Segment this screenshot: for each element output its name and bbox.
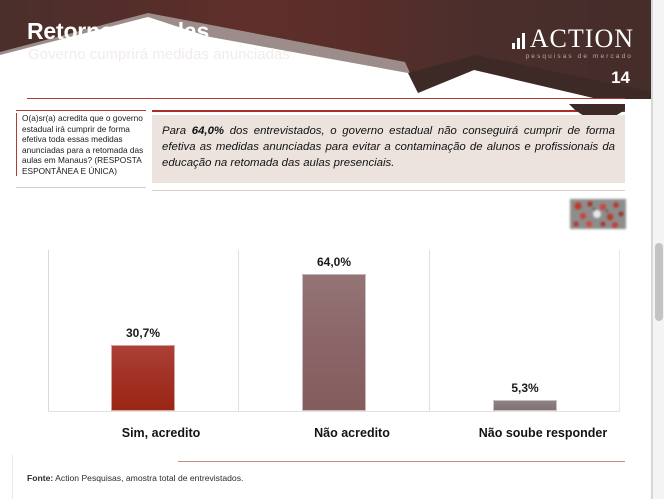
footer-label: Fonte:: [27, 473, 53, 483]
summary-callout: Para 64,0% dos entrevistados, o governo …: [152, 115, 625, 183]
thumbnail-image: [570, 199, 626, 229]
action-logo: ACTION: [512, 26, 634, 52]
footer-left-rule: [12, 455, 13, 499]
bar-chart: 30,7% 64,0% 5,3% Sim, acredito Não acred…: [30, 240, 626, 435]
logo-tagline: pesquisas de mercado: [526, 53, 633, 60]
scrollbar-thumb[interactable]: [655, 243, 663, 321]
bar-slot-2: 5,3%: [430, 250, 620, 411]
bar-slot-0: 30,7%: [48, 250, 238, 411]
category-label-2: Não soube responder: [448, 426, 638, 440]
summary-bottom-rule: [152, 190, 625, 191]
header-divider-rule: [27, 98, 625, 99]
page-number: 14: [611, 68, 630, 88]
bar-value-label-0: 30,7%: [126, 326, 160, 340]
question-bottom-rule: [16, 187, 146, 188]
summary-text: Para 64,0% dos entrevistados, o governo …: [162, 123, 615, 172]
chart-axis-bottom: [48, 411, 620, 412]
footer-rule: [178, 461, 625, 462]
page-title: Retorno as aulas: [27, 18, 209, 45]
bar-nao-acredito[interactable]: [302, 274, 366, 411]
question-top-rule: [16, 110, 146, 111]
chart-plot-area: 30,7% 64,0% 5,3% Sim, acredito Não acred…: [48, 250, 620, 412]
summary-rest: dos entrevistados, o governo estadual nã…: [162, 125, 615, 169]
document-frame: Retorno as aulas Governo cumprirá medida…: [0, 0, 652, 499]
bar-slot-1: 64,0%: [239, 250, 429, 411]
page-subtitle: Governo cumprirá medidas anunciadas: [28, 46, 290, 63]
category-label-0: Sim, acredito: [66, 426, 256, 440]
question-text: O(a)sr(a) acredita que o governo estadua…: [16, 113, 150, 176]
slide-header: Retorno as aulas Governo cumprirá medida…: [0, 0, 652, 99]
bar-nao-soube-responder[interactable]: [493, 400, 557, 411]
footer-text: Action Pesquisas, amostra total de entre…: [53, 473, 243, 483]
bar-sim-acredito[interactable]: [111, 345, 175, 411]
summary-top-rule: [152, 110, 625, 112]
bar-value-label-1: 64,0%: [317, 255, 351, 269]
bar-value-label-2: 5,3%: [511, 381, 538, 395]
vertical-scrollbar[interactable]: [652, 0, 664, 499]
summary-lead: Para: [162, 125, 192, 137]
category-label-1: Não acredito: [257, 426, 447, 440]
bar-chart-icon: [512, 33, 525, 52]
summary-highlight-value: 64,0%: [192, 125, 224, 137]
logo-wordmark: ACTION: [530, 26, 634, 52]
virus-photo-thumbnail: [570, 199, 626, 229]
footer-source: Fonte: Action Pesquisas, amostra total d…: [27, 473, 243, 483]
slide-root: Retorno as aulas Governo cumprirá medida…: [0, 0, 664, 499]
